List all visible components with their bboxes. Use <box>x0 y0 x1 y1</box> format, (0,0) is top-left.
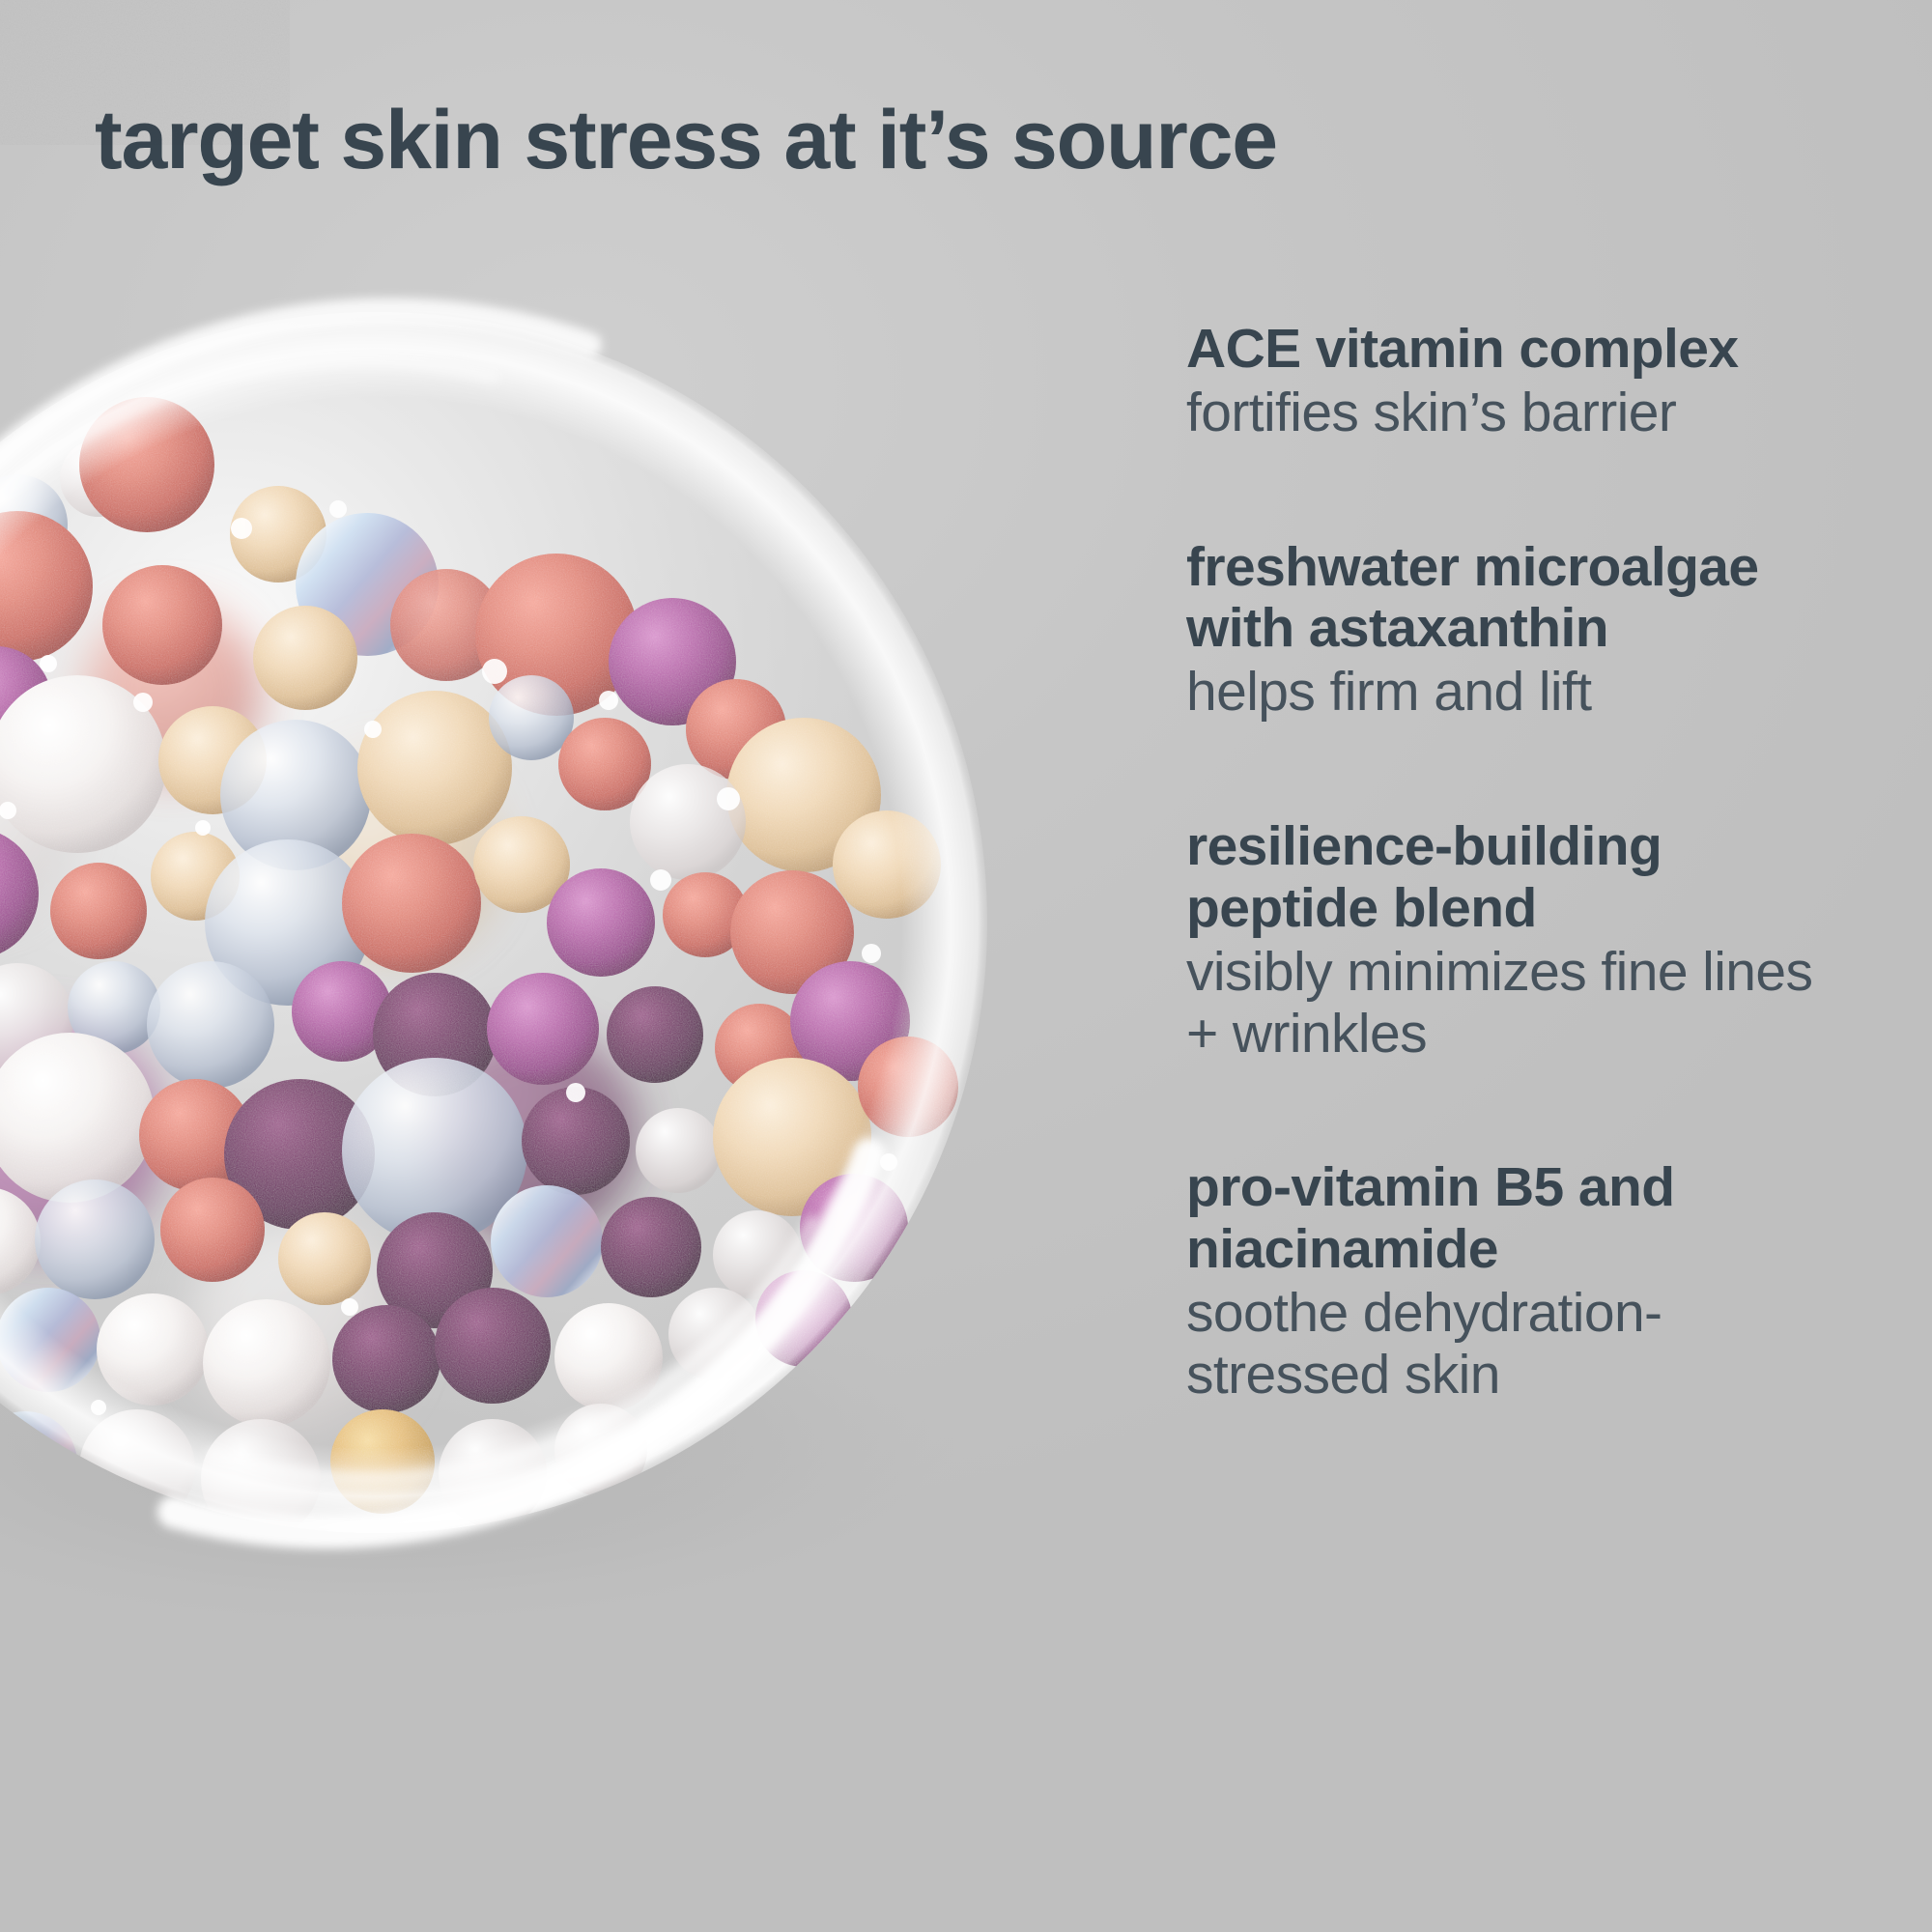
feature-benefit: helps firm and lift <box>1186 662 1843 724</box>
feature-name: resilience-building peptide blend <box>1186 816 1843 940</box>
feature-name: pro-vitamin B5 and niacinamide <box>1186 1157 1843 1281</box>
feature-benefit: soothe dehydration-stressed skin <box>1186 1283 1843 1406</box>
feature-item: pro-vitamin B5 and niacinamide soothe de… <box>1186 1157 1843 1406</box>
feature-item: ACE vitamin complex fortifies skin’s bar… <box>1186 319 1843 444</box>
page-title: target skin stress at it’s source <box>95 97 1853 184</box>
feature-name: freshwater microalgae with astaxanthin <box>1186 537 1843 661</box>
feature-item: freshwater microalgae with astaxanthin h… <box>1186 537 1843 724</box>
feature-item: resilience-building peptide blend visibl… <box>1186 816 1843 1065</box>
feature-benefit: visibly minimizes fine lines + wrinkles <box>1186 942 1843 1065</box>
product-ingredient-visual <box>0 188 1024 1681</box>
feature-name: ACE vitamin complex <box>1186 319 1843 381</box>
feature-list: ACE vitamin complex fortifies skin’s bar… <box>1186 319 1843 1406</box>
promo-canvas: target skin stress at it’s source ACE vi… <box>0 0 1932 1932</box>
feature-benefit: fortifies skin’s barrier <box>1186 383 1843 444</box>
